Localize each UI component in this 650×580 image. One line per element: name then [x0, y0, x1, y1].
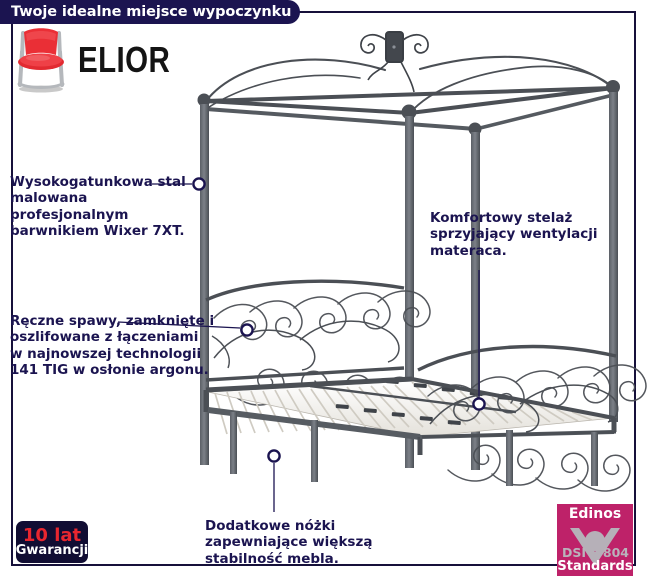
callout-extra-legs: Dodatkowe nóżki zapewniające większą sta… [205, 518, 420, 567]
marker-slats [473, 398, 484, 409]
edinos-dsi-label: DSI [562, 545, 586, 560]
marker-welds [241, 324, 252, 335]
callout-hand-welds: Ręczne spawy, zamknięte i oszlifowane z … [10, 313, 215, 378]
callout-leader-lines [0, 0, 650, 580]
marker-steel [193, 178, 204, 189]
callout-steel-quality: Wysokogatunkowa stal malowana profesjona… [10, 174, 195, 239]
callout-slat-base: Komfortowy stelaż sprzyjający wentylacji… [430, 210, 640, 259]
marker-legs [268, 450, 279, 461]
edinos-standards-badge: Edinos DSI 804 Standards [557, 504, 633, 576]
edinos-standard-number: 804 [603, 545, 629, 560]
edinos-standards-label: Standards [557, 559, 633, 574]
warranty-label: Gwarancji [16, 544, 89, 558]
warranty-years: 10 lat [23, 527, 81, 544]
warranty-badge: 10 lat Gwarancji [16, 521, 88, 563]
infographic-canvas: Twoje idealne miejsce wypoczynku ELIOR W… [0, 0, 650, 580]
